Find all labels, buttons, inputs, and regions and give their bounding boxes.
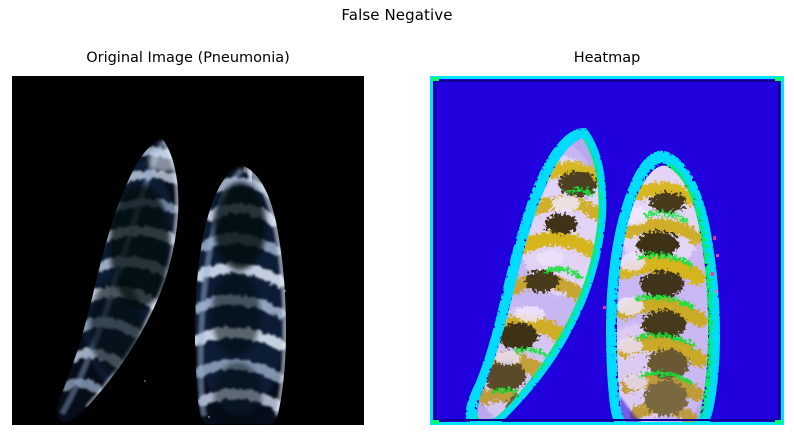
heatmap-image (430, 76, 784, 425)
figure-suptitle: False Negative (0, 6, 794, 24)
heatmap-svg (430, 76, 784, 425)
panel-title-original: Original Image (Pneumonia) (12, 50, 364, 66)
panel-heatmap: Heatmap (430, 76, 784, 425)
panel-title-heatmap: Heatmap (430, 50, 784, 66)
panel-original-image: Original Image (Pneumonia) (12, 76, 364, 425)
xray-svg (12, 76, 364, 425)
original-xray-image (12, 76, 364, 425)
xray-background (12, 76, 364, 425)
figure-canvas: False Negative Original Image (Pneumonia… (0, 0, 794, 438)
